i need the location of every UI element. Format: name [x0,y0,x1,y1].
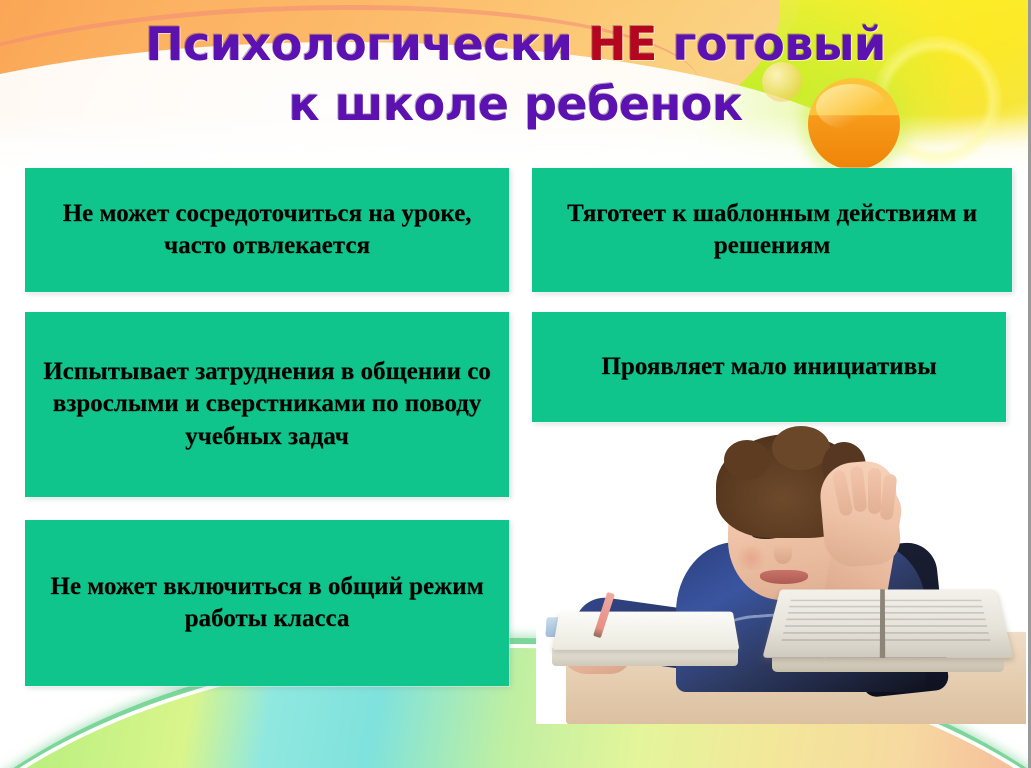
trait-box-little-initiative: Проявляет мало инициативы [532,312,1006,422]
title-negation: НЕ [588,17,657,71]
boy-cheek [734,546,768,570]
frustrated-boy-photo [536,424,1026,724]
hand-finger [868,468,881,514]
trait-box-text: Проявляет мало инициативы [589,351,948,384]
book-page-edge [772,658,1004,672]
book-spine [880,589,885,657]
book-text-lines [781,600,992,645]
trait-box-cannot-join-class-routine: Не может включиться в общий режим работы… [25,520,509,686]
trait-box-communication-difficulties: Испытывает затруднения в общении со взро… [25,312,509,497]
boy-mouth [760,570,808,584]
trait-box-text: Не может включиться в общий режим работы… [25,571,509,636]
trait-box-cannot-concentrate: Не может сосредоточиться на уроке, часто… [25,168,509,292]
open-notebook [553,612,740,650]
title-line-2: к школе ребенок [0,74,1031,134]
notebook-edge [552,648,738,666]
title-text-after: готовый [657,17,886,71]
boy-nose [774,544,792,564]
trait-box-text: Испытывает затруднения в общении со взро… [25,356,509,454]
title-text-before: Психологически [145,17,588,71]
slide-canvas: Психологически НЕ готовый к школе ребено… [0,0,1031,768]
trait-box-template-actions: Тяготеет к шаблонным действиям и решения… [532,168,1012,292]
trait-box-text: Тяготеет к шаблонным действиям и решения… [532,198,1012,263]
title-line-1: Психологически НЕ готовый [0,14,1031,74]
hair-curl [724,440,770,480]
trait-box-text: Не может сосредоточиться на уроке, часто… [25,198,509,263]
page-title: Психологически НЕ готовый к школе ребено… [0,14,1031,134]
